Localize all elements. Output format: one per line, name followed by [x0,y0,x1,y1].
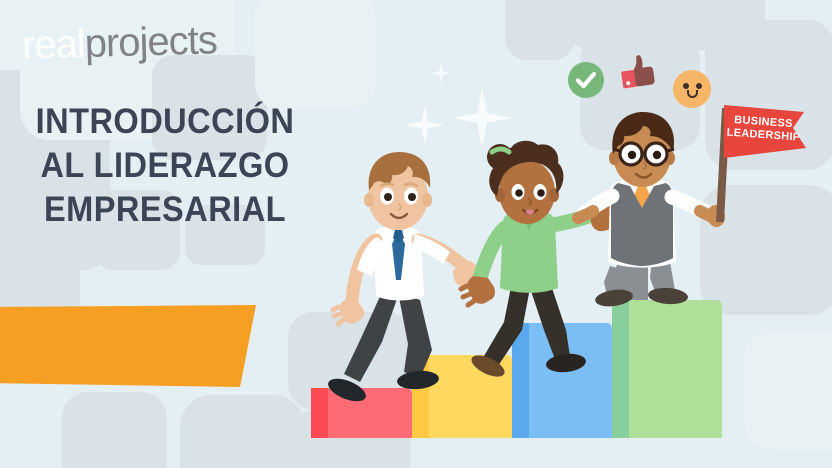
illustration-characters [0,0,832,468]
logo-banner [0,305,256,387]
character-businessman-1 [325,152,479,406]
logo-text-projects: projects [84,18,217,66]
flag-label: BUSINESS LEADERSHIP [726,114,800,145]
logo-text-real: real [21,22,85,68]
page-title: INTRODUCCIÓN AL LIDERAZGO EMPRESARIAL [12,100,319,232]
character-leader-3 [578,112,727,309]
character-businesswoman-2 [461,141,621,381]
slide-canvas: BUSINESS LEADERSHIP INTRODUCCIÓN AL LIDE… [0,0,832,468]
logo-realprojects: realprojects [21,18,217,68]
